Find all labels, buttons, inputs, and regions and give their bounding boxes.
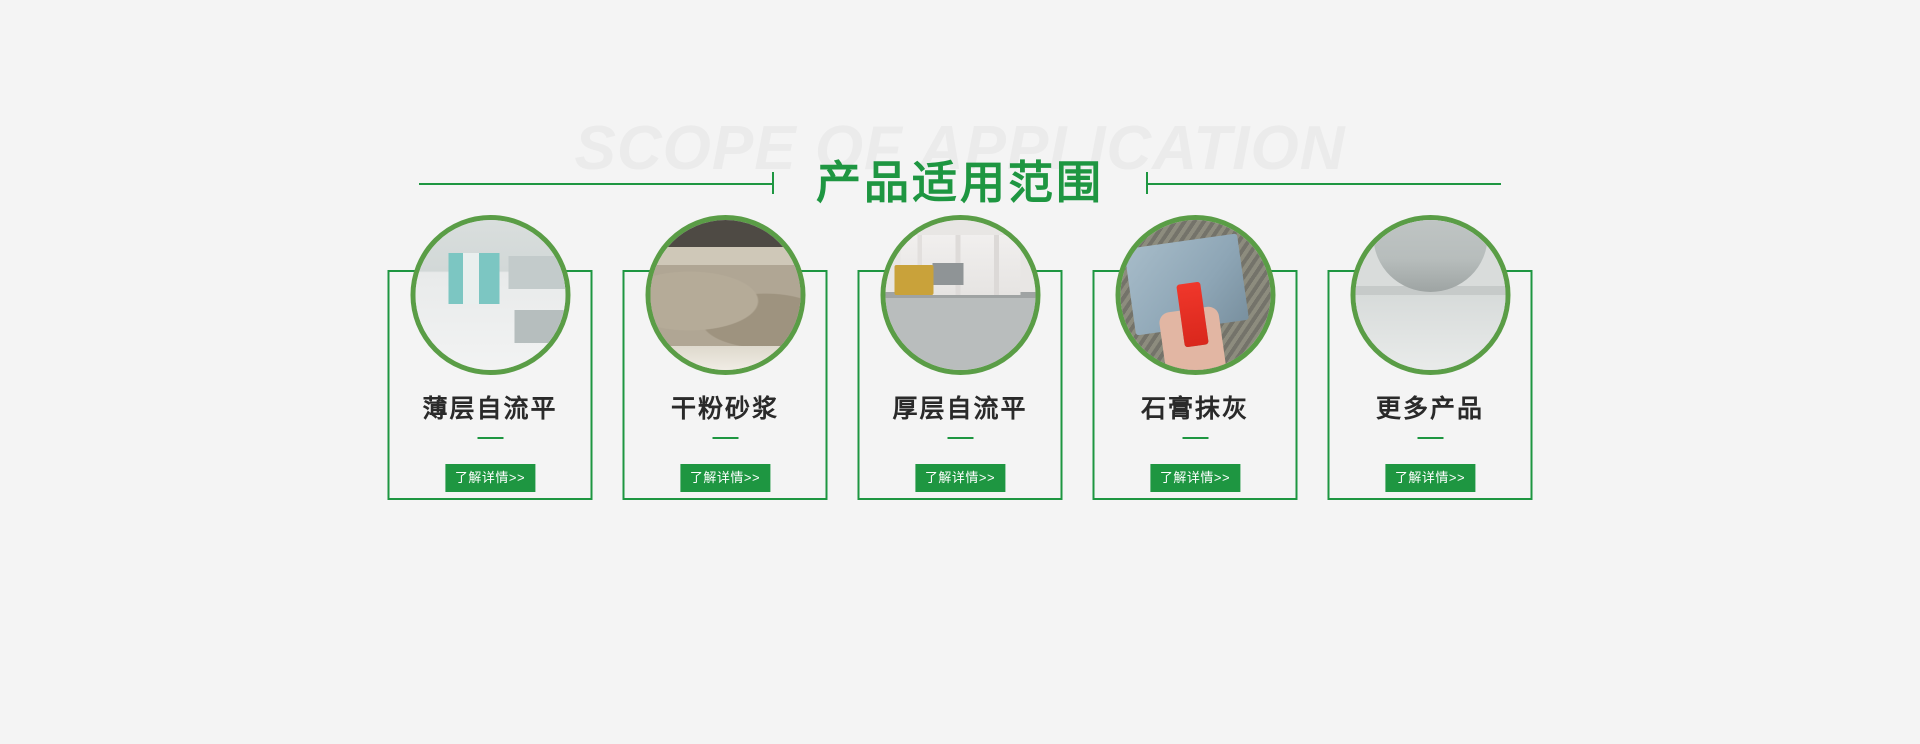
- frame-line-left: [388, 270, 390, 500]
- card-title-underline: [712, 437, 738, 439]
- application-card[interactable]: 更多产品 了解详情>>: [1328, 215, 1533, 500]
- learn-more-button[interactable]: 了解详情>>: [915, 464, 1005, 492]
- thick-self-leveling-floor-photo: [885, 220, 1035, 370]
- card-image-circle[interactable]: [1115, 215, 1275, 375]
- frame-line-bottom: [623, 498, 828, 500]
- more-products-photo: [1355, 220, 1505, 370]
- card-title-underline: [1182, 437, 1208, 439]
- title-rule-right: [1146, 172, 1501, 194]
- frame-line-right: [1061, 270, 1063, 500]
- section-header: SCOPE OF APPLICATION 产品适用范围: [0, 60, 1920, 180]
- frame-line-right: [826, 270, 828, 500]
- frame-line-left: [858, 270, 860, 500]
- application-card[interactable]: 薄层自流平 了解详情>>: [388, 215, 593, 500]
- card-title: 更多产品: [1328, 397, 1533, 422]
- rule-bar-right: [1146, 183, 1501, 185]
- rule-bar-left: [419, 183, 774, 185]
- card-title: 石膏抹灰: [1093, 397, 1298, 422]
- learn-more-button[interactable]: 了解详情>>: [680, 464, 770, 492]
- frame-line-right: [591, 270, 593, 500]
- application-card[interactable]: 厚层自流平 了解详情>>: [858, 215, 1063, 500]
- card-title: 厚层自流平: [858, 397, 1063, 422]
- card-title-underline: [477, 437, 503, 439]
- rule-tick-right: [1146, 172, 1148, 194]
- frame-line-right: [1296, 270, 1298, 500]
- frame-line-right: [1531, 270, 1533, 500]
- page-title: 产品适用范围: [774, 160, 1146, 205]
- card-image-circle[interactable]: [410, 215, 570, 375]
- dry-powder-mortar-photo: [650, 220, 800, 370]
- card-title-underline: [947, 437, 973, 439]
- application-card[interactable]: 干粉砂浆 了解详情>>: [623, 215, 828, 500]
- card-image-circle[interactable]: [880, 215, 1040, 375]
- application-card[interactable]: 石膏抹灰 了解详情>>: [1093, 215, 1298, 500]
- learn-more-button[interactable]: 了解详情>>: [1150, 464, 1240, 492]
- card-title-underline: [1417, 437, 1443, 439]
- frame-line-bottom: [858, 498, 1063, 500]
- gypsum-plaster-trowel-photo: [1120, 220, 1270, 370]
- frame-line-bottom: [1093, 498, 1298, 500]
- learn-more-button[interactable]: 了解详情>>: [1385, 464, 1475, 492]
- card-image-circle[interactable]: [645, 215, 805, 375]
- frame-line-bottom: [1328, 498, 1533, 500]
- frame-line-left: [623, 270, 625, 500]
- frame-line-left: [1093, 270, 1095, 500]
- title-row: 产品适用范围: [0, 160, 1920, 205]
- card-title: 干粉砂浆: [623, 397, 828, 422]
- rule-tick-left: [772, 172, 774, 194]
- thin-self-leveling-floor-photo: [415, 220, 565, 370]
- card-title: 薄层自流平: [388, 397, 593, 422]
- learn-more-button[interactable]: 了解详情>>: [445, 464, 535, 492]
- card-image-circle[interactable]: [1350, 215, 1510, 375]
- frame-line-bottom: [388, 498, 593, 500]
- frame-line-left: [1328, 270, 1330, 500]
- scope-of-application-section: SCOPE OF APPLICATION 产品适用范围: [0, 0, 1920, 744]
- title-rule-left: [419, 172, 774, 194]
- application-card-list: 薄层自流平 了解详情>> 干粉砂浆 了解详情>>: [388, 215, 1533, 500]
